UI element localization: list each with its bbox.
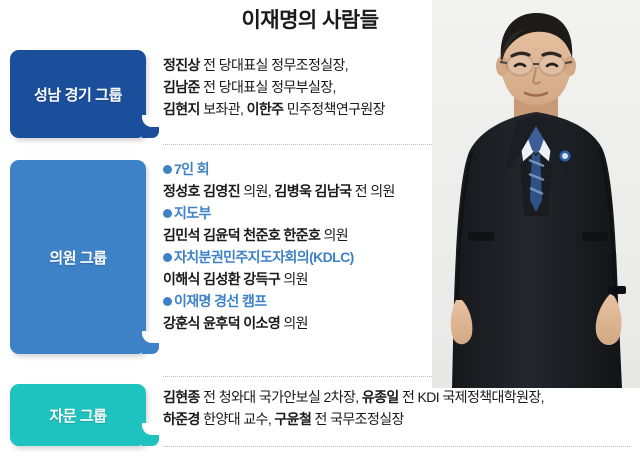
member-name: 김현종 xyxy=(163,389,200,405)
member-title: 전 당대표실 정무부실장, xyxy=(200,79,336,95)
bullet-dot-icon xyxy=(163,165,172,174)
subsection-heading-text: 자치분권민주지도자회의(KDLC) xyxy=(174,249,354,265)
group-label-lawmakers: 의원 그룹 xyxy=(10,160,146,354)
member-title: 의원, xyxy=(240,183,274,199)
member-name: 이한주 xyxy=(247,101,284,117)
member-title: 보좌관, xyxy=(200,101,247,117)
member-name: 구윤철 xyxy=(274,411,311,427)
member-name: 강훈식 윤후덕 이소영 xyxy=(163,315,280,331)
subsection-heading-text: 7인 회 xyxy=(174,161,209,177)
member-name: 정진상 xyxy=(163,57,200,73)
member-title: 전 의원 xyxy=(351,183,394,199)
member-title: 전 당대표실 정무조정실장, xyxy=(200,57,348,73)
member-title: 한양대 교수, xyxy=(200,411,275,427)
bullet-dot-icon xyxy=(163,253,172,262)
group-label-text: 자문 그룹 xyxy=(49,405,106,426)
subsection-heading: 지도부 xyxy=(163,202,463,224)
member-name: 유종일 xyxy=(362,389,399,405)
bullet-dot-icon xyxy=(163,209,172,218)
bullet-dot-icon xyxy=(163,297,172,306)
portrait-photo xyxy=(432,0,640,388)
subsection-heading: 자치분권민주지도자회의(KDLC) xyxy=(163,246,463,268)
group-content-lawmakers: 7인 회 정성호 김영진 의원, 김병욱 김남국 전 의원 지도부 김민석 김윤… xyxy=(163,158,463,334)
member-name: 김남준 xyxy=(163,79,200,95)
group-label-seongnam-gyeonggi: 성남 경기 그룹 xyxy=(10,50,146,138)
group-label-advisors: 자문 그룹 xyxy=(10,384,146,446)
member-name: 김현지 xyxy=(163,101,200,117)
member-name: 이해식 김성환 강득구 xyxy=(163,271,280,287)
member-line: 김현지 보좌관, 이한주 민주정책연구원장 xyxy=(163,98,463,120)
bubble-tail-icon xyxy=(142,432,159,446)
member-name: 하준경 xyxy=(163,411,200,427)
group-label-text: 의원 그룹 xyxy=(49,247,106,268)
member-line: 강훈식 윤후덕 이소영 의원 xyxy=(163,312,463,334)
subsection-heading-text: 이재명 경선 캠프 xyxy=(174,293,267,309)
subsection-heading: 이재명 경선 캠프 xyxy=(163,290,463,312)
member-line: 김현종 전 청와대 국가안보실 2차장, 유종일 전 KDI 국제정책대학원장, xyxy=(163,386,633,408)
section-divider xyxy=(163,446,630,447)
member-name: 김민석 김윤덕 천준호 한준호 xyxy=(163,227,320,243)
page-title: 이재명의 사람들 xyxy=(150,6,470,36)
group-content-seongnam-gyeonggi: 정진상 전 당대표실 정무조정실장, 김남준 전 당대표실 정무부실장, 김현지… xyxy=(163,54,463,120)
infographic-root: 이재명의 사람들 성남 경기 그룹 의원 그룹 자문 그룹 정진상 전 당대표실… xyxy=(0,0,640,466)
group-label-text: 성남 경기 그룹 xyxy=(34,84,122,105)
bubble-tail-icon xyxy=(142,340,159,354)
subsection-heading-text: 지도부 xyxy=(174,205,211,221)
bubble-tail-icon xyxy=(142,124,159,138)
member-title: 의원 xyxy=(320,227,348,243)
member-line: 김민석 김윤덕 천준호 한준호 의원 xyxy=(163,224,463,246)
subsection-heading: 7인 회 xyxy=(163,158,463,180)
group-content-advisors: 김현종 전 청와대 국가안보실 2차장, 유종일 전 KDI 국제정책대학원장,… xyxy=(163,386,633,430)
member-line: 이해식 김성환 강득구 의원 xyxy=(163,268,463,290)
member-title: 의원 xyxy=(280,271,308,287)
member-line: 하준경 한양대 교수, 구윤철 전 국무조정실장 xyxy=(163,408,633,430)
member-title: 전 국무조정실장 xyxy=(311,411,404,427)
member-name: 김병욱 김남국 xyxy=(274,183,351,199)
member-title: 전 KDI 국제정책대학원장, xyxy=(399,389,544,405)
member-title: 의원 xyxy=(280,315,308,331)
member-line: 정성호 김영진 의원, 김병욱 김남국 전 의원 xyxy=(163,180,463,202)
member-title: 전 청와대 국가안보실 2차장, xyxy=(200,389,362,405)
member-line: 김남준 전 당대표실 정무부실장, xyxy=(163,76,463,98)
member-line: 정진상 전 당대표실 정무조정실장, xyxy=(163,54,463,76)
member-name: 정성호 김영진 xyxy=(163,183,240,199)
member-title: 민주정책연구원장 xyxy=(283,101,385,117)
